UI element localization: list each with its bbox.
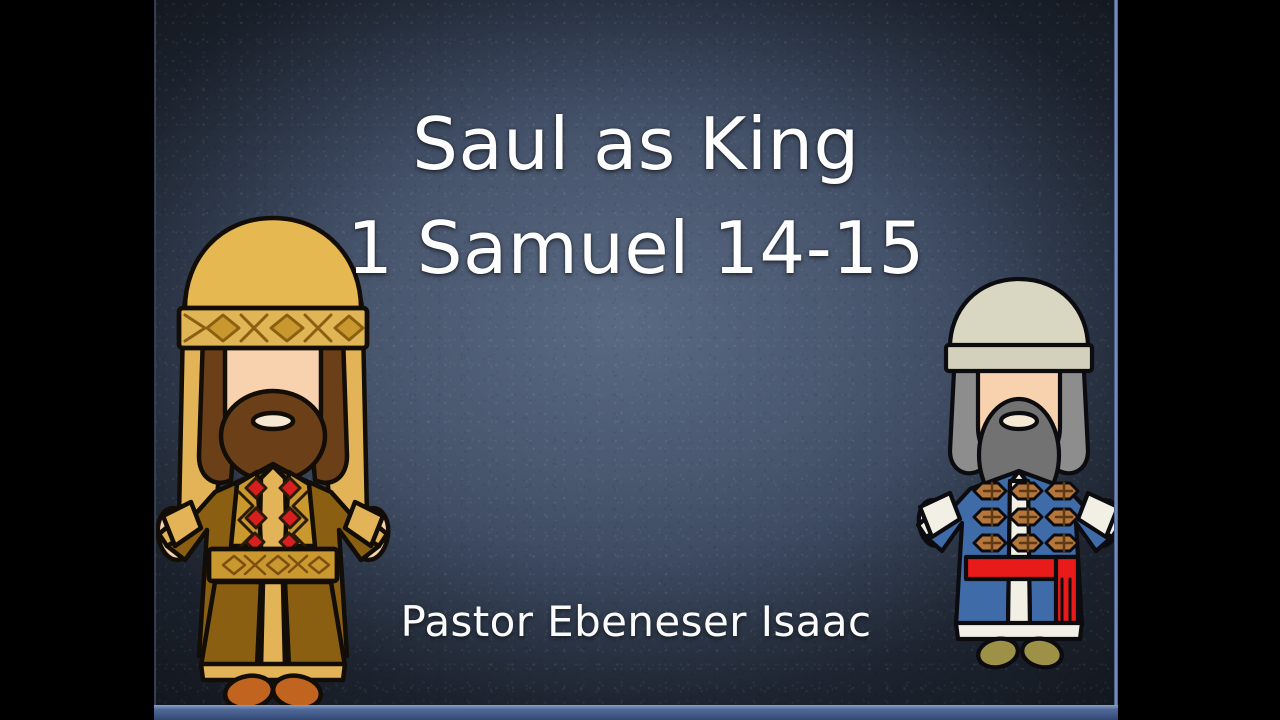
slide-left-edge bbox=[154, 0, 156, 720]
letterbox-bar-left bbox=[0, 0, 154, 720]
slide-stage: Saul as King 1 Samuel 14-15 Pastor Ebene… bbox=[0, 0, 1280, 720]
saul-king-illustration bbox=[154, 216, 401, 706]
samuel-prophet-illustration bbox=[910, 275, 1118, 675]
presentation-slide: Saul as King 1 Samuel 14-15 Pastor Ebene… bbox=[154, 0, 1118, 720]
slide-bottom-edge bbox=[154, 705, 1118, 720]
slide-title-line-1: Saul as King bbox=[154, 108, 1118, 180]
letterbox-bar-right bbox=[1118, 0, 1280, 720]
